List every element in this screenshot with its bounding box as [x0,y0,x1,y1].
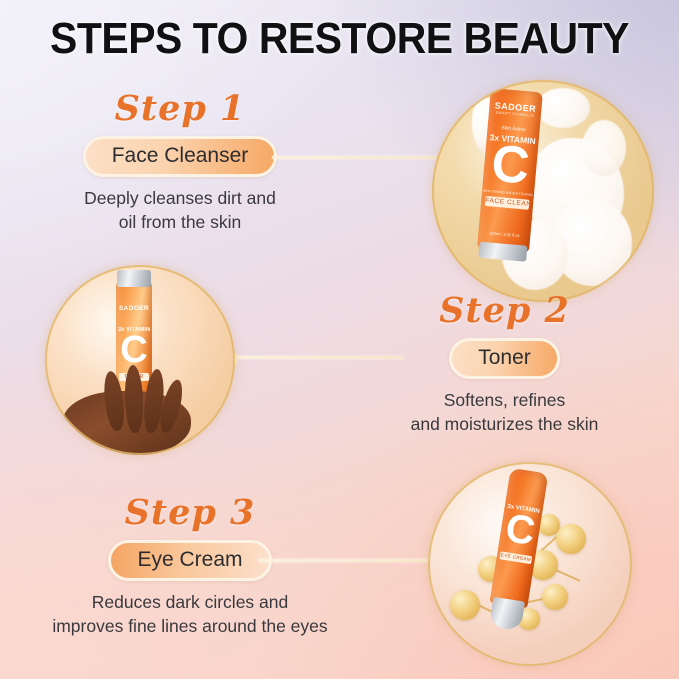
step-3-label-badge[interactable]: Eye Cream [108,540,271,581]
step-3-description-line-2: improves fine lines around the eyes [0,615,380,639]
step-1-label-badge[interactable]: Face Cleanser [83,136,278,177]
step-3-product-circle: 3x VITAMIN C EYE CREAM [428,462,632,666]
step-1-description-line-2: oil from the skin [0,211,360,235]
step-2-label-badge[interactable]: Toner [449,338,560,379]
step-2-kicker: Step 2 [330,290,679,331]
product-brand: SADOER [116,305,152,312]
page-title: STEPS TO RESTORE BEAUTY [24,14,655,64]
step-3-text-block: Step 3 Eye Cream Reduces dark circles an… [0,492,380,638]
tube-cap [478,242,527,262]
vitamin-c-letter: C [483,142,539,189]
step-2-description-line-2: and moisturizes the skin [330,413,679,437]
foam-blob [582,120,626,176]
bottle-cap [117,270,151,287]
vitamin-molecule [556,524,586,554]
step-3-kicker: Step 3 [0,492,380,533]
circle-2-glow [59,275,171,379]
vitamin-c-letter: C [499,511,542,549]
vitamin-molecule [450,590,480,620]
step-1-text-block: Step 1 Face Cleanser Deeply cleanses dir… [0,88,360,234]
step-1-product-circle: SADOER SMART FORMULA Skin Active 3x VITA… [432,80,654,302]
step-2-product-circle: SADOER 3x VITAMIN C TONER [45,265,235,455]
step-1-description-line-1: Deeply cleanses dirt and [0,187,360,211]
step-3-description-line-1: Reduces dark circles and [0,591,380,615]
step-2-text-block: Step 2 Toner Softens, refines and moistu… [330,290,679,436]
step-2-description-line-1: Softens, refines [330,389,679,413]
applicator-tip [489,597,525,632]
vitamin-c-letter: C [116,335,152,366]
step-1-connector-line [272,156,452,159]
foam-blob [536,88,590,128]
step-1-kicker: Step 1 [0,88,360,129]
step-2-connector-line [228,356,404,359]
step-3-connector-line [258,559,444,562]
vitamin-molecule [542,584,568,610]
infographic-poster: STEPS TO RESTORE BEAUTY Step 1 Face Clea… [0,0,679,679]
